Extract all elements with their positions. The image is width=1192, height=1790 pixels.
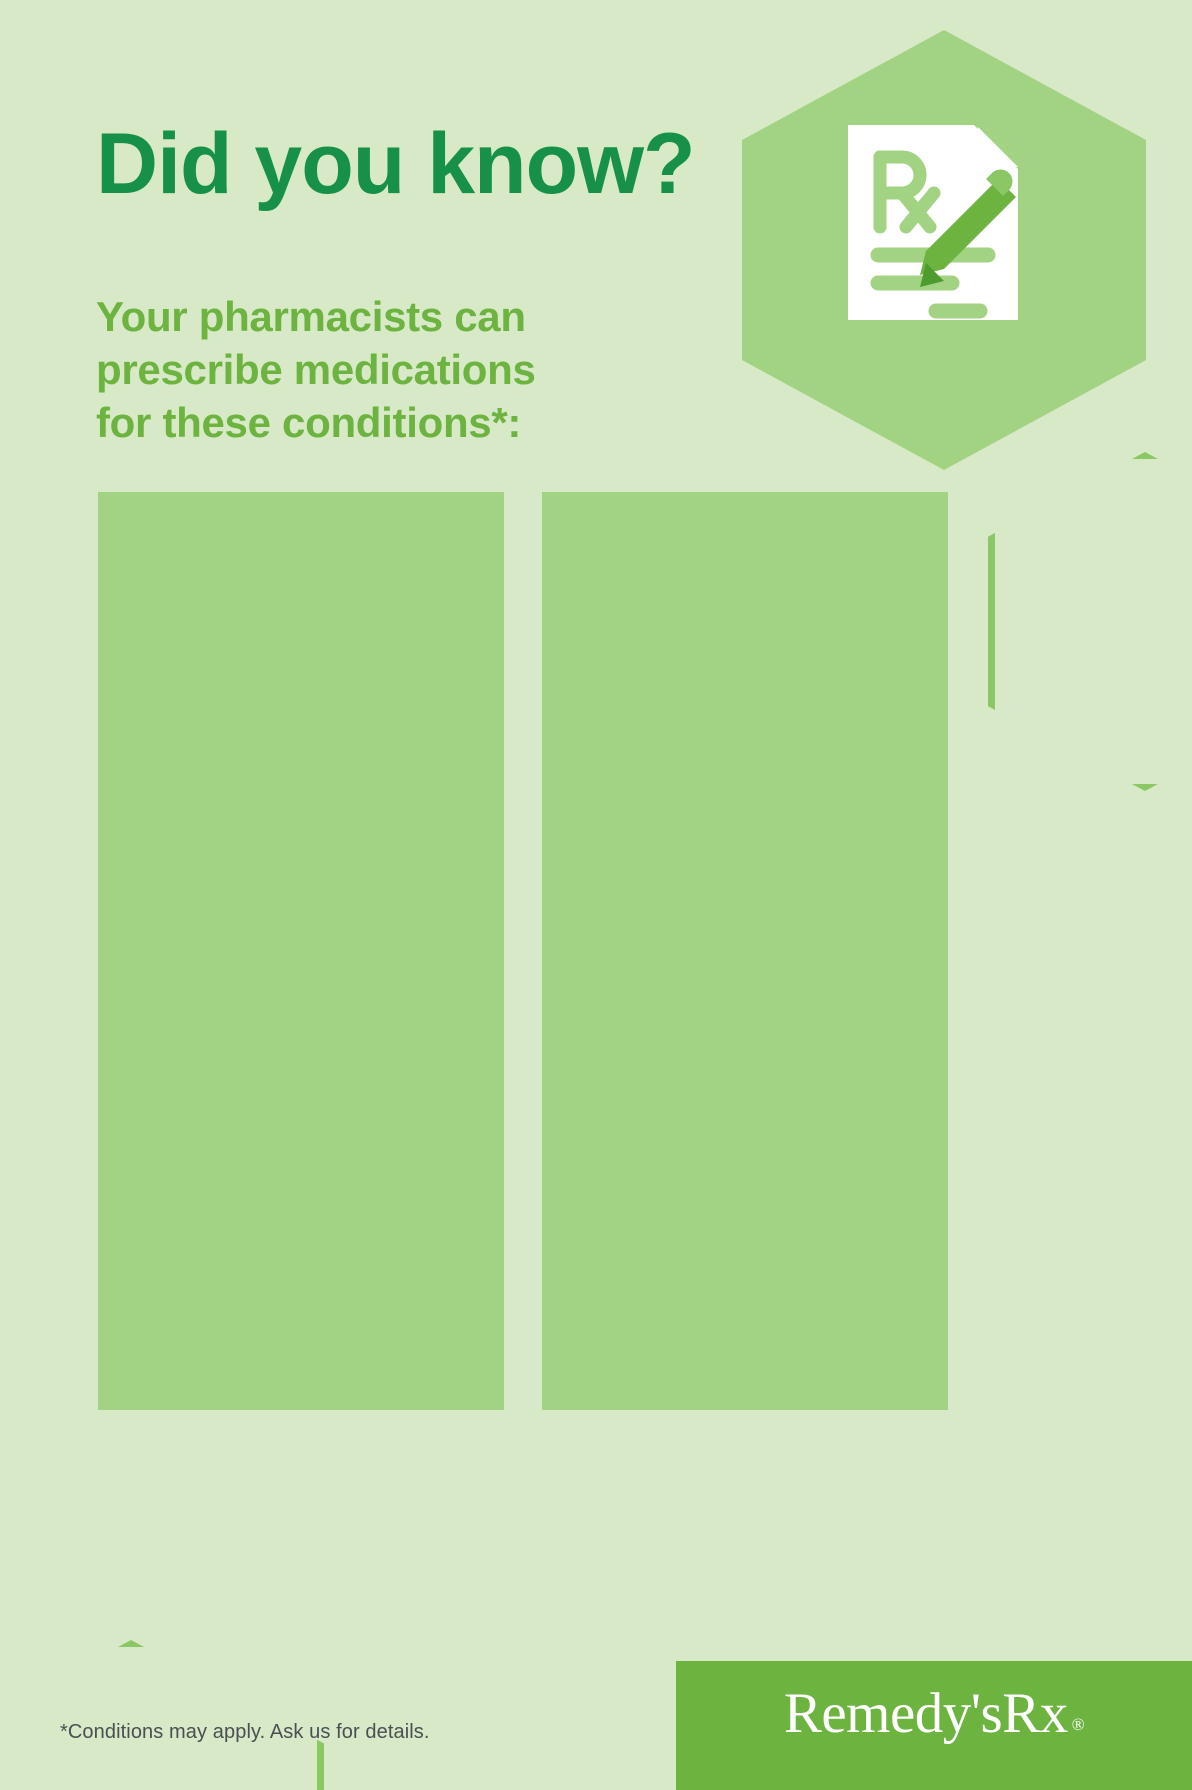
- subheading-line-1: Your pharmacists can: [96, 290, 656, 343]
- subheading-line-2: prescribe medications: [96, 343, 656, 396]
- poster-canvas: Did you know? Your pharmacists can presc…: [0, 0, 1192, 1790]
- subheading: Your pharmacists can prescribe medicatio…: [96, 290, 656, 449]
- conditions-column-left: [98, 492, 504, 1410]
- registered-trademark-symbol: ®: [1072, 1715, 1084, 1734]
- rx-prescription-document-icon: [840, 115, 1050, 330]
- subheading-line-3: for these conditions*:: [96, 396, 656, 449]
- brand-logo: Remedy'sRx®: [676, 1661, 1192, 1790]
- hexagon-outline-right-decoration: [988, 452, 1192, 791]
- conditions-column-right: [542, 492, 948, 1410]
- conditions-panels: [98, 492, 948, 1410]
- brand-wordmark: Remedy'sRx®: [784, 1685, 1084, 1753]
- page-title: Did you know?: [96, 118, 695, 210]
- brand-wordmark-text: Remedy'sRx: [784, 1682, 1068, 1745]
- hexagon-outline-bottom-left-decoration: [0, 1640, 324, 1790]
- footnote-disclaimer: *Conditions may apply. Ask us for detail…: [60, 1719, 430, 1745]
